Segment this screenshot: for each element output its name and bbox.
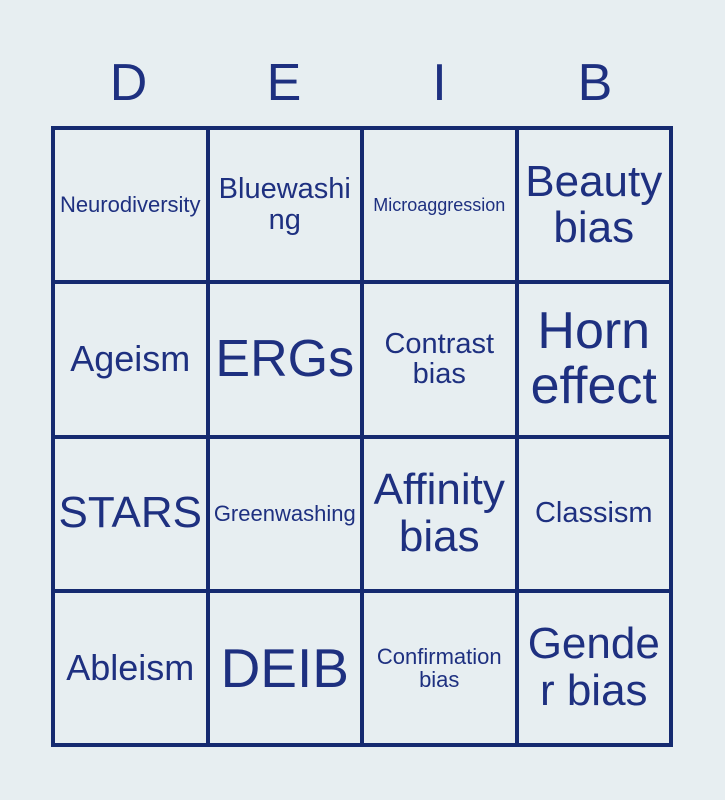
bingo-cell[interactable]: Ageism xyxy=(55,284,206,434)
bingo-cell-label: Greenwashing xyxy=(212,502,359,525)
bingo-header-row: D E I B xyxy=(51,46,673,120)
header-letter-e: E xyxy=(207,57,363,109)
bingo-cell-label: ERGs xyxy=(212,332,359,387)
bingo-cell-label: Affinity bias xyxy=(366,467,513,560)
bingo-cell[interactable]: Neurodiversity xyxy=(55,130,206,280)
bingo-cell-label: Horn effect xyxy=(521,304,668,414)
bingo-cell[interactable]: STARS xyxy=(55,439,206,589)
bingo-cell[interactable]: DEIB xyxy=(210,593,361,743)
bingo-grid: Neurodiversity Bluewashing Microaggressi… xyxy=(51,126,673,747)
bingo-card: D E I B Neurodiversity Bluewashing Micro… xyxy=(0,0,725,800)
bingo-cell[interactable]: Confirmation bias xyxy=(364,593,515,743)
bingo-cell-label: Microaggression xyxy=(366,196,513,215)
bingo-cell-label: Gender bias xyxy=(521,621,668,714)
bingo-cell-label: Confirmation bias xyxy=(366,645,513,692)
bingo-cell[interactable]: ERGs xyxy=(210,284,361,434)
bingo-cell[interactable]: Classism xyxy=(519,439,670,589)
bingo-cell-label: Neurodiversity xyxy=(57,193,204,216)
header-letter-d: D xyxy=(51,57,207,109)
bingo-cell[interactable]: Greenwashing xyxy=(210,439,361,589)
header-letter-i: I xyxy=(362,57,518,109)
bingo-cell[interactable]: Horn effect xyxy=(519,284,670,434)
bingo-cell[interactable]: Bluewashing xyxy=(210,130,361,280)
bingo-cell-label: Contrast bias xyxy=(366,329,513,390)
bingo-cell-label: STARS xyxy=(57,490,204,537)
bingo-cell[interactable]: Contrast bias xyxy=(364,284,515,434)
bingo-cell-label: Classism xyxy=(521,498,668,529)
bingo-cell-label: Ableism xyxy=(57,649,204,687)
bingo-cell-label: DEIB xyxy=(212,639,359,697)
bingo-cell[interactable]: Affinity bias xyxy=(364,439,515,589)
bingo-cell[interactable]: Ableism xyxy=(55,593,206,743)
header-letter-b: B xyxy=(518,57,674,109)
bingo-cell-label: Ageism xyxy=(57,340,204,378)
bingo-cell-label: Beauty bias xyxy=(521,159,668,252)
bingo-cell-label: Bluewashing xyxy=(212,174,359,235)
bingo-cell[interactable]: Gender bias xyxy=(519,593,670,743)
bingo-cell[interactable]: Beauty bias xyxy=(519,130,670,280)
bingo-cell[interactable]: Microaggression xyxy=(364,130,515,280)
